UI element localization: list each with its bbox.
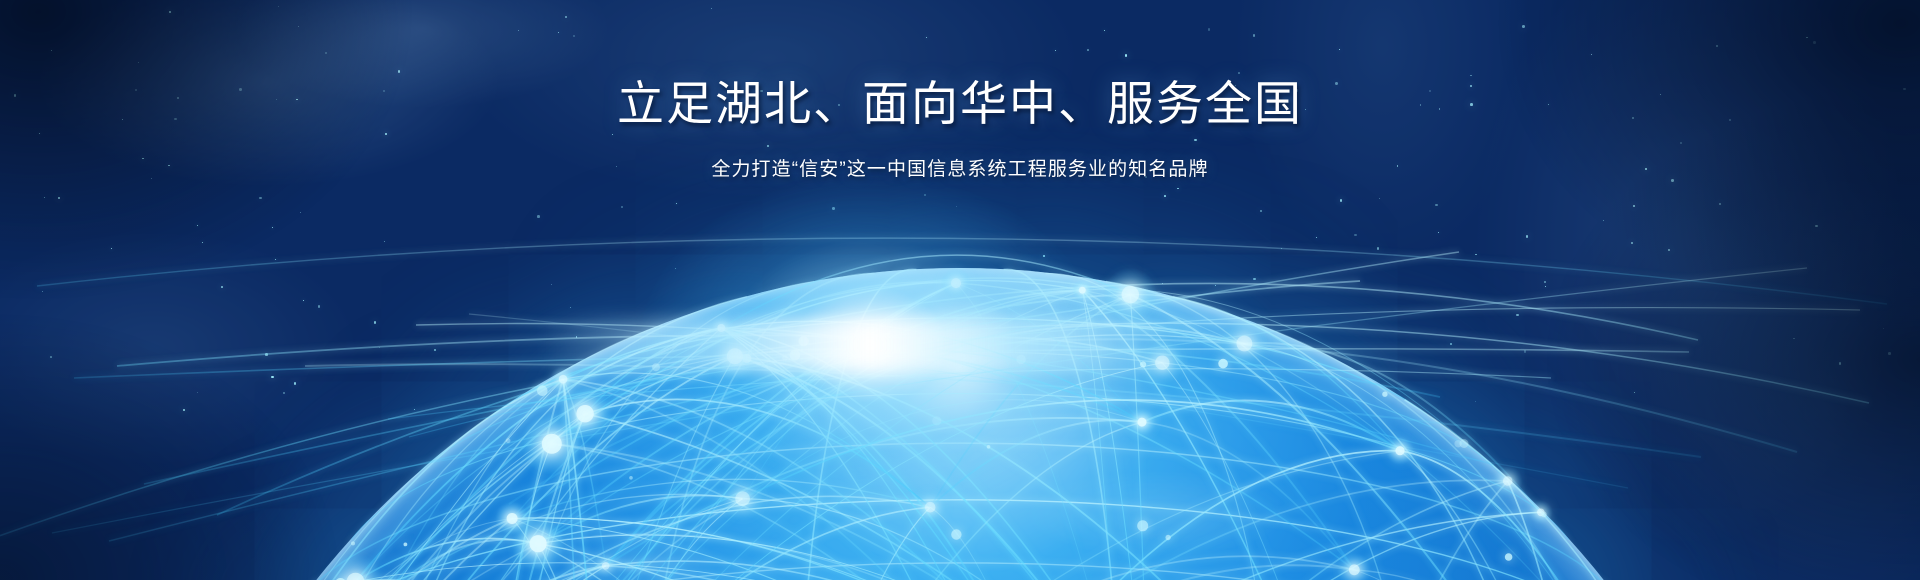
banner-subtitle: 全力打造“信安”这一中国信息系统工程服务业的知名品牌 xyxy=(0,157,1920,184)
banner-title: 立足湖北、面向华中、服务全国 xyxy=(0,78,1920,131)
hero-banner: 立足湖北、面向华中、服务全国 全力打造“信安”这一中国信息系统工程服务业的知名品… xyxy=(0,0,1920,580)
banner-copy-block: 立足湖北、面向华中、服务全国 全力打造“信安”这一中国信息系统工程服务业的知名品… xyxy=(0,78,1920,183)
